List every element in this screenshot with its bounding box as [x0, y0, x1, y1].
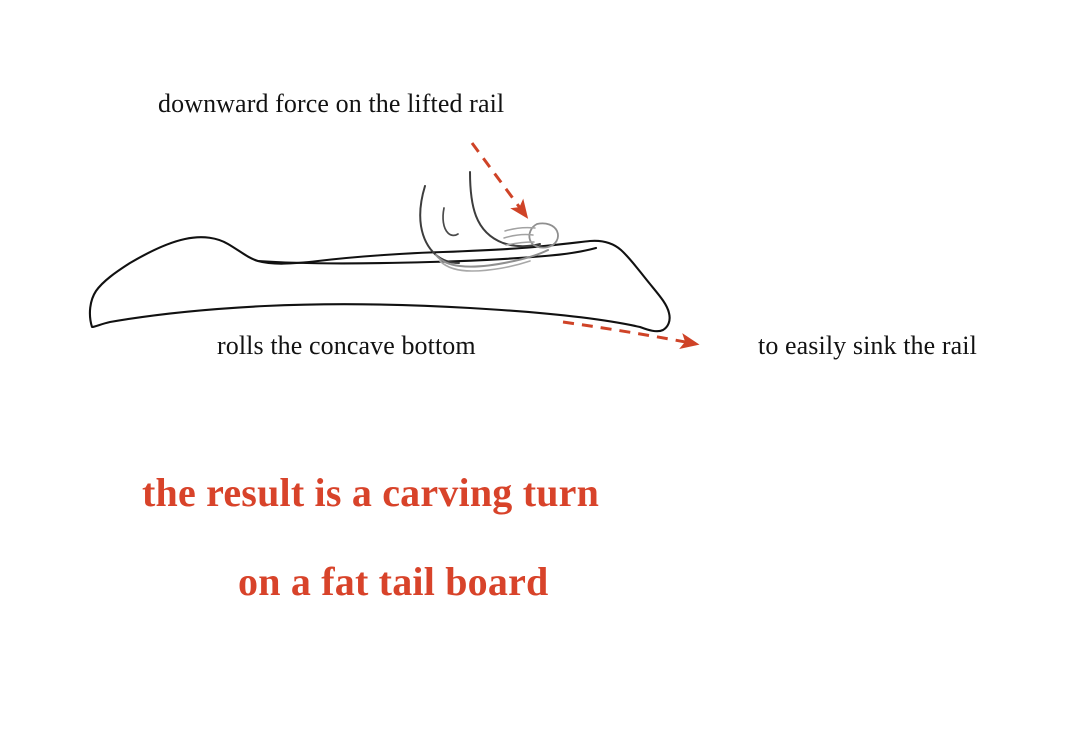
foot-big-toe [529, 223, 558, 247]
headline-line-2: on a fat tail board [238, 562, 548, 602]
headline-line-1: the result is a carving turn [142, 473, 599, 513]
label-downward-force: downward force on the lifted rail [158, 91, 504, 117]
label-rolls-concave-bottom: rolls the concave bottom [217, 333, 476, 359]
diagram-canvas: downward force on the lifted rail rolls … [0, 0, 1090, 751]
label-sink-the-rail: to easily sink the rail [758, 333, 977, 359]
force-arrow [472, 143, 526, 216]
foot-ankle-bone [443, 208, 458, 235]
surfboard-cross-section [90, 237, 670, 331]
